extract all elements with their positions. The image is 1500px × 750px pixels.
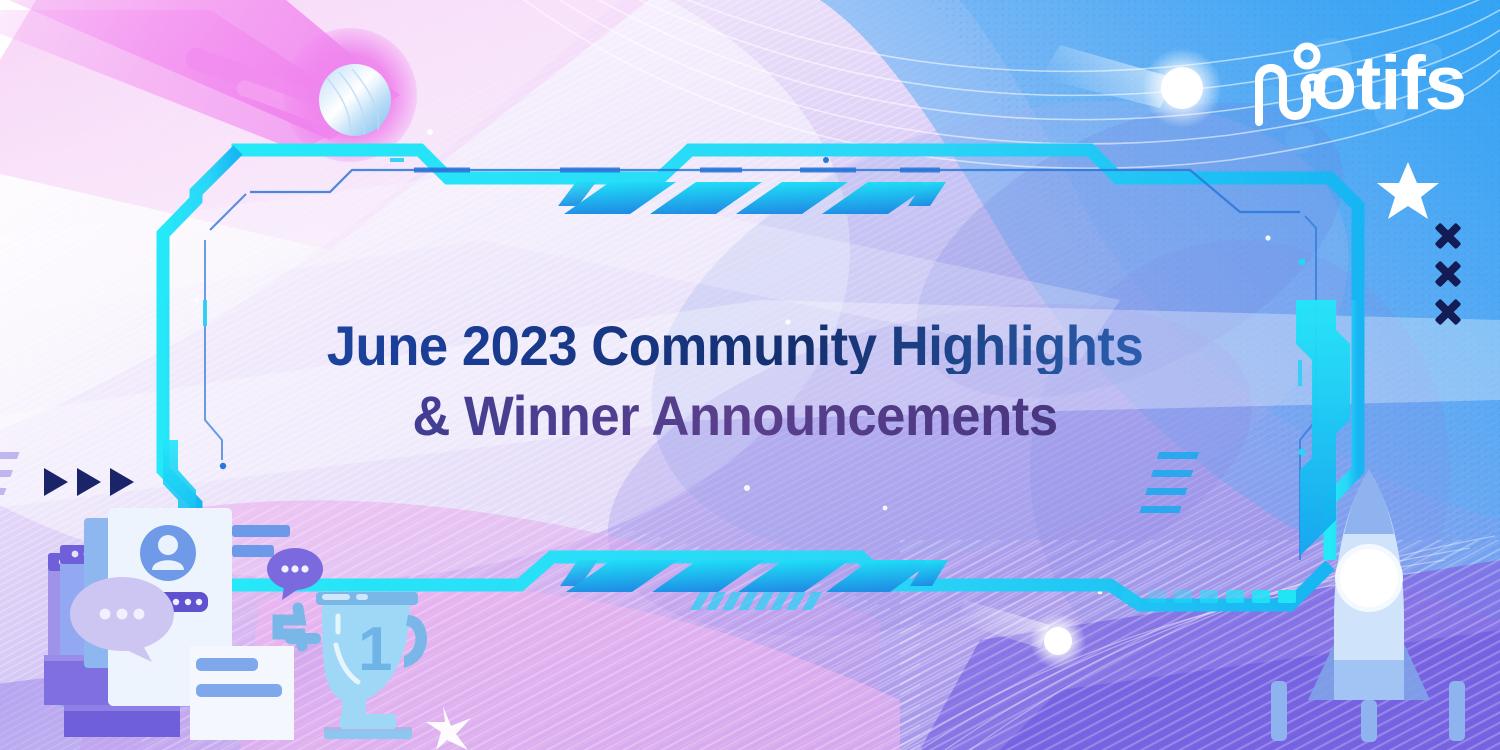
star-icon [1376, 160, 1440, 222]
play-arrows-decoration [44, 468, 134, 496]
brand-logo[interactable]: otifs [1233, 30, 1466, 138]
play-triangle-1-icon [44, 468, 68, 496]
brand-wordmark: otifs [1311, 46, 1466, 122]
trophy-rank-number: 1 [358, 615, 392, 684]
frame-progress-segments [1122, 590, 1296, 603]
play-triangle-3-icon [110, 468, 134, 496]
x-marks-decoration [1434, 222, 1462, 326]
message-sheet [190, 646, 294, 740]
x-mark-2-icon [1434, 260, 1462, 288]
play-triangle-2-icon [77, 468, 101, 496]
x-mark-3-icon [1434, 298, 1462, 326]
community-highlights-banner: 1 [0, 0, 1500, 750]
x-mark-1-icon [1434, 222, 1462, 250]
